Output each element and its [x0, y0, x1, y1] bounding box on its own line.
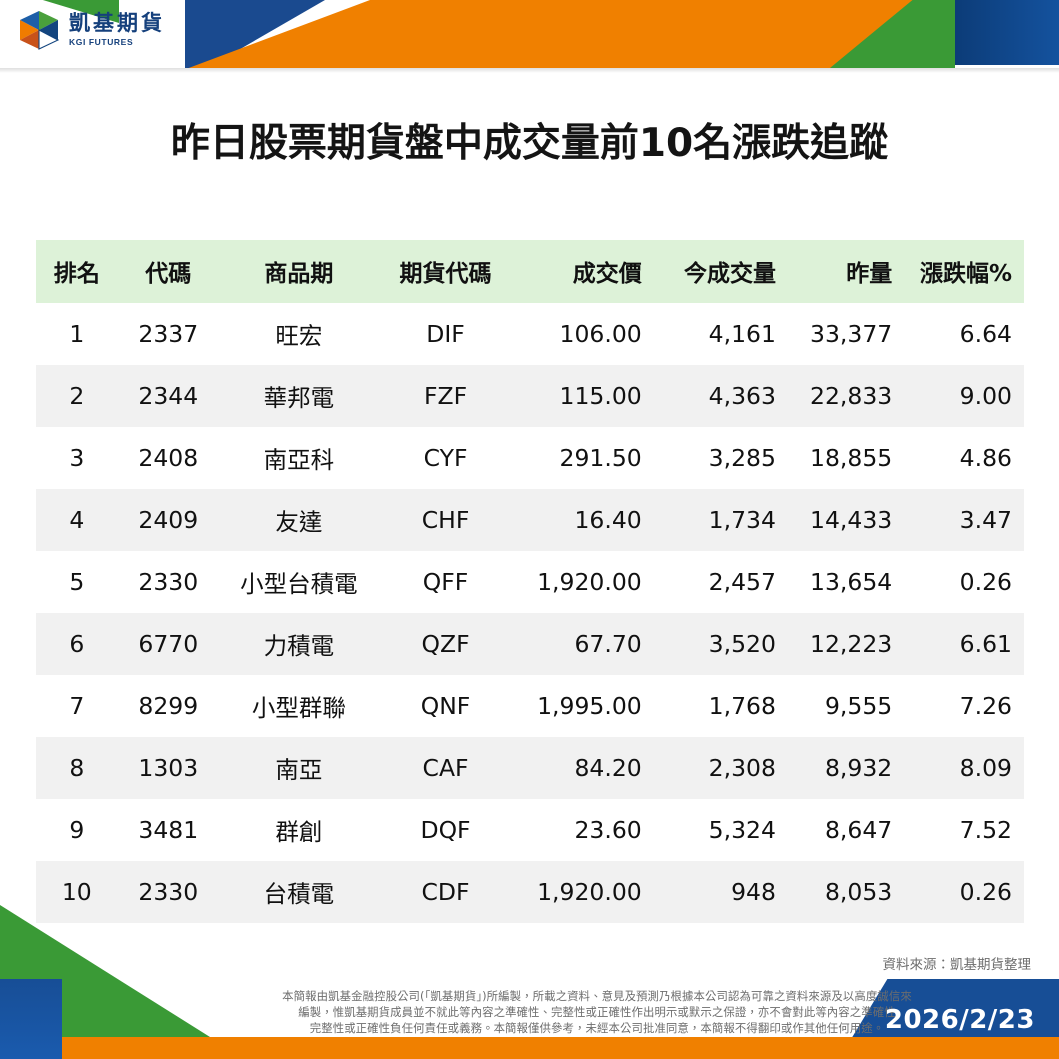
- ranking-table-container: 排名 代碼 商品期 期貨代碼 成交價 今成交量 昨量 漲跌幅% 1 2337 旺…: [36, 240, 1024, 923]
- cell-rank: 8: [36, 737, 118, 799]
- brand-logo-text: 凱基期貨 KGI FUTURES: [69, 13, 165, 47]
- table-header: 排名 代碼 商品期 期貨代碼 成交價 今成交量 昨量 漲跌幅%: [36, 240, 1024, 303]
- cell-change-pct: 8.09: [904, 737, 1024, 799]
- table-row: 6 6770 力積電 QZF 67.70 3,520 12,223 6.61: [36, 613, 1024, 675]
- cell-volume: 2,308: [654, 737, 788, 799]
- cell-price: 106.00: [512, 303, 654, 365]
- column-header-rank: 排名: [36, 240, 118, 303]
- cell-rank: 7: [36, 675, 118, 737]
- brand-logo: 凱基期貨 KGI FUTURES: [18, 9, 165, 51]
- cell-volume: 5,324: [654, 799, 788, 861]
- cell-code: 2330: [118, 551, 219, 613]
- cell-code: 2408: [118, 427, 219, 489]
- cell-change-pct: 4.86: [904, 427, 1024, 489]
- cell-code: 2344: [118, 365, 219, 427]
- cell-product: 旺宏: [219, 303, 379, 365]
- cell-price: 115.00: [512, 365, 654, 427]
- cell-future-code: DQF: [379, 799, 512, 861]
- cell-volume: 3,520: [654, 613, 788, 675]
- cell-future-code: CAF: [379, 737, 512, 799]
- cell-price: 291.50: [512, 427, 654, 489]
- column-header-price: 成交價: [512, 240, 654, 303]
- table-row: 4 2409 友達 CHF 16.40 1,734 14,433 3.47: [36, 489, 1024, 551]
- cell-future-code: QZF: [379, 613, 512, 675]
- cell-prev-volume: 33,377: [788, 303, 904, 365]
- cell-prev-volume: 18,855: [788, 427, 904, 489]
- cell-price: 1,995.00: [512, 675, 654, 737]
- cell-volume: 1,768: [654, 675, 788, 737]
- page-title: 昨日股票期貨盤中成交量前10名漲跌追蹤: [0, 112, 1059, 168]
- cell-future-code: FZF: [379, 365, 512, 427]
- cell-change-pct: 3.47: [904, 489, 1024, 551]
- table-row: 9 3481 群創 DQF 23.60 5,324 8,647 7.52: [36, 799, 1024, 861]
- cell-future-code: QFF: [379, 551, 512, 613]
- cell-volume: 4,363: [654, 365, 788, 427]
- cell-price: 16.40: [512, 489, 654, 551]
- cell-product: 小型台積電: [219, 551, 379, 613]
- column-header-future-code: 期貨代碼: [379, 240, 512, 303]
- cell-code: 8299: [118, 675, 219, 737]
- cell-change-pct: 7.26: [904, 675, 1024, 737]
- cell-code: 2337: [118, 303, 219, 365]
- cell-prev-volume: 22,833: [788, 365, 904, 427]
- cell-volume: 1,734: [654, 489, 788, 551]
- cell-rank: 4: [36, 489, 118, 551]
- table-row: 1 2337 旺宏 DIF 106.00 4,161 33,377 6.64: [36, 303, 1024, 365]
- cell-code: 3481: [118, 799, 219, 861]
- cell-product: 群創: [219, 799, 379, 861]
- cell-product: 華邦電: [219, 365, 379, 427]
- table-row: 5 2330 小型台積電 QFF 1,920.00 2,457 13,654 0…: [36, 551, 1024, 613]
- header-blue-block-shape: [955, 0, 1059, 65]
- header-shadow: [0, 68, 1059, 73]
- cell-product: 南亞科: [219, 427, 379, 489]
- column-header-volume: 今成交量: [654, 240, 788, 303]
- table-row: 3 2408 南亞科 CYF 291.50 3,285 18,855 4.86: [36, 427, 1024, 489]
- cell-prev-volume: 12,223: [788, 613, 904, 675]
- cell-rank: 6: [36, 613, 118, 675]
- cell-prev-volume: 13,654: [788, 551, 904, 613]
- cell-prev-volume: 14,433: [788, 489, 904, 551]
- cell-product: 南亞: [219, 737, 379, 799]
- cell-volume: 2,457: [654, 551, 788, 613]
- cell-rank: 1: [36, 303, 118, 365]
- footer-banner: 資料來源：凱基期貨整理 本簡報由凱基金融控股公司(「凱基期貨」)所編製，所載之資…: [0, 905, 1059, 1059]
- cell-change-pct: 0.26: [904, 551, 1024, 613]
- cell-prev-volume: 8,932: [788, 737, 904, 799]
- cell-price: 1,920.00: [512, 551, 654, 613]
- cell-code: 2409: [118, 489, 219, 551]
- cell-product: 力積電: [219, 613, 379, 675]
- brand-name-en: KGI FUTURES: [69, 38, 165, 47]
- cell-code: 1303: [118, 737, 219, 799]
- cell-volume: 3,285: [654, 427, 788, 489]
- table-body: 1 2337 旺宏 DIF 106.00 4,161 33,377 6.64 2…: [36, 303, 1024, 923]
- cell-future-code: QNF: [379, 675, 512, 737]
- cell-price: 84.20: [512, 737, 654, 799]
- column-header-product: 商品期: [219, 240, 379, 303]
- cell-code: 6770: [118, 613, 219, 675]
- cell-rank: 9: [36, 799, 118, 861]
- table-row: 7 8299 小型群聯 QNF 1,995.00 1,768 9,555 7.2…: [36, 675, 1024, 737]
- cell-change-pct: 7.52: [904, 799, 1024, 861]
- cell-rank: 2: [36, 365, 118, 427]
- table-header-row: 排名 代碼 商品期 期貨代碼 成交價 今成交量 昨量 漲跌幅%: [36, 240, 1024, 303]
- column-header-prev-volume: 昨量: [788, 240, 904, 303]
- ranking-table: 排名 代碼 商品期 期貨代碼 成交價 今成交量 昨量 漲跌幅% 1 2337 旺…: [36, 240, 1024, 923]
- kgi-diamond-logo-icon: [18, 9, 60, 51]
- cell-future-code: CYF: [379, 427, 512, 489]
- cell-volume: 4,161: [654, 303, 788, 365]
- cell-prev-volume: 9,555: [788, 675, 904, 737]
- cell-rank: 5: [36, 551, 118, 613]
- cell-future-code: CHF: [379, 489, 512, 551]
- report-date: 2026/2/23: [885, 1005, 1035, 1035]
- table-row: 2 2344 華邦電 FZF 115.00 4,363 22,833 9.00: [36, 365, 1024, 427]
- brand-name-cn: 凱基期貨: [69, 13, 165, 34]
- cell-future-code: DIF: [379, 303, 512, 365]
- column-header-change-pct: 漲跌幅%: [904, 240, 1024, 303]
- cell-change-pct: 6.61: [904, 613, 1024, 675]
- cell-rank: 3: [36, 427, 118, 489]
- column-header-code: 代碼: [118, 240, 219, 303]
- table-row: 8 1303 南亞 CAF 84.20 2,308 8,932 8.09: [36, 737, 1024, 799]
- cell-price: 23.60: [512, 799, 654, 861]
- cell-change-pct: 6.64: [904, 303, 1024, 365]
- cell-product: 小型群聯: [219, 675, 379, 737]
- footer-orange-strip-shape: [62, 1037, 1059, 1059]
- cell-product: 友達: [219, 489, 379, 551]
- cell-prev-volume: 8,647: [788, 799, 904, 861]
- footer-blue-square-shape: [0, 979, 62, 1059]
- cell-price: 67.70: [512, 613, 654, 675]
- cell-change-pct: 9.00: [904, 365, 1024, 427]
- data-source-note: 資料來源：凱基期貨整理: [883, 953, 1032, 973]
